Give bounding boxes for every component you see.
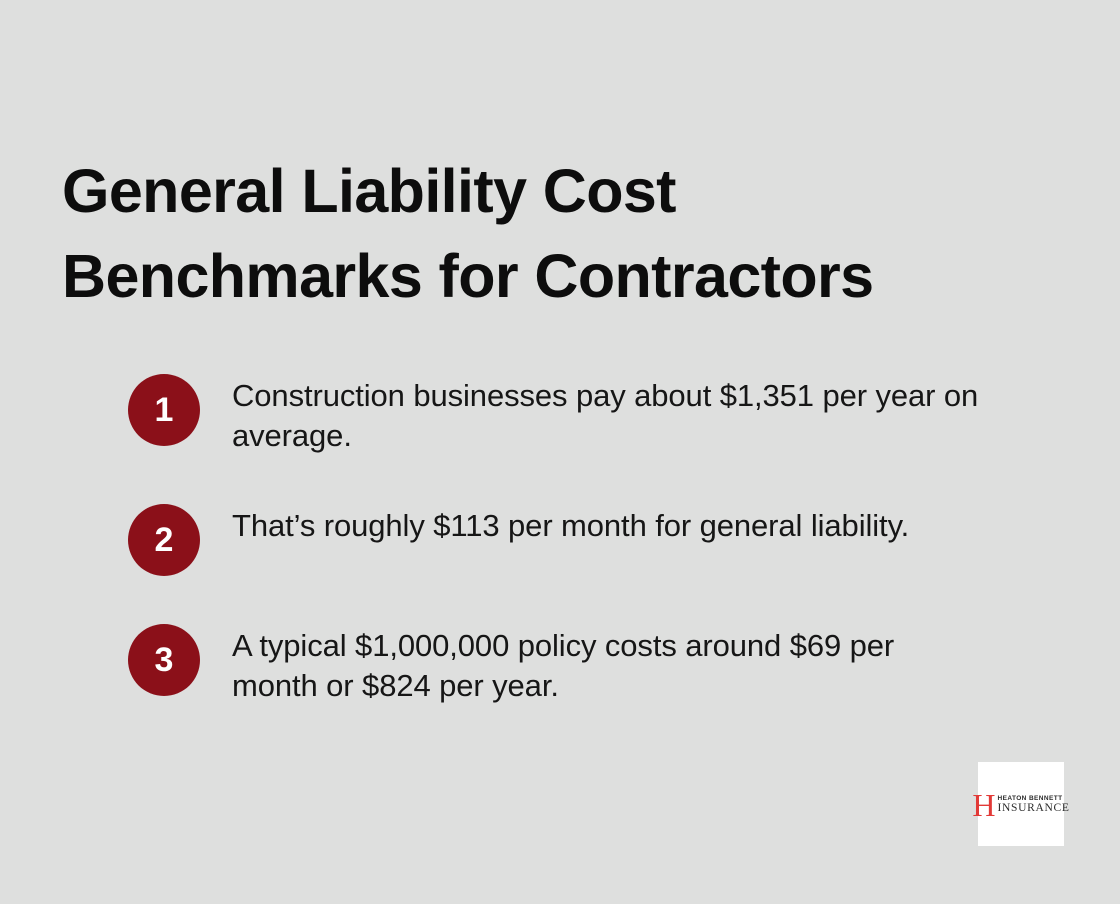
- list-item-text: Construction businesses pay about $1,351…: [232, 374, 1052, 456]
- logo-lockup: H HEATON BENNETT INSURANCE: [972, 791, 1069, 819]
- list-item-text: That’s roughly $113 per month for genera…: [232, 504, 1058, 546]
- logo-monogram-h: H: [972, 791, 995, 819]
- list-item: 1 Construction businesses pay about $1,3…: [128, 374, 1058, 456]
- page-title: General Liability Cost Benchmarks for Co…: [62, 149, 1012, 319]
- list-item: 3 A typical $1,000,000 policy costs arou…: [128, 624, 1058, 706]
- list-item-text: A typical $1,000,000 policy costs around…: [232, 624, 962, 706]
- logo-wordmark: HEATON BENNETT INSURANCE: [998, 796, 1070, 815]
- list-item: 2 That’s roughly $113 per month for gene…: [128, 504, 1058, 576]
- logo-category-name: INSURANCE: [998, 803, 1070, 815]
- list-item-number-badge: 2: [128, 504, 200, 576]
- infographic-slide: General Liability Cost Benchmarks for Co…: [0, 0, 1120, 904]
- list-item-number-badge: 3: [128, 624, 200, 696]
- brand-logo: H HEATON BENNETT INSURANCE: [978, 762, 1064, 846]
- list-item-number-badge: 1: [128, 374, 200, 446]
- benchmark-list: 1 Construction businesses pay about $1,3…: [128, 374, 1058, 706]
